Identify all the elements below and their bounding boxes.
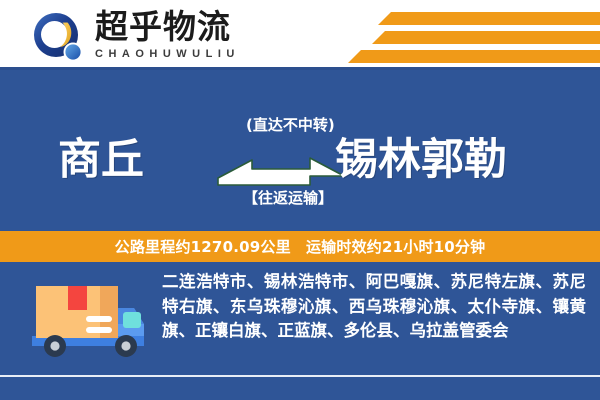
decor-stripe [378, 12, 600, 25]
brand-name-en: CHAOHUWULIU [95, 48, 295, 60]
destination-city: 锡林郭勒 [335, 136, 507, 184]
brand-name-cn: 超乎物流 [95, 8, 295, 46]
coverage-section: 二连浩特市、锡林浩特市、阿巴嘎旗、苏尼特左旗、苏尼特右旗、东乌珠穆沁旗、西乌珠穆… [0, 262, 600, 375]
coverage-city-list: 二连浩特市、锡林浩特市、阿巴嘎旗、苏尼特左旗、苏尼特右旗、东乌珠穆沁旗、西乌珠穆… [162, 270, 586, 344]
delivery-truck-icon [22, 274, 147, 362]
bottom-band [0, 377, 600, 400]
origin-city: 商丘 [58, 136, 144, 184]
roundtrip-tag: 【往返运输】 [243, 187, 333, 208]
decor-stripe [372, 31, 600, 44]
banner-header: 超乎物流 CHAOHUWULIU [0, 0, 600, 67]
direct-service-tag: (直达不中转) [246, 114, 335, 135]
route-section: 商丘 (直达不中转) 锡林郭勒 【往返运输】 [0, 70, 600, 228]
double-headed-arrow-icon [216, 154, 346, 186]
distance-duration-text: 公路里程约1270.09公里 运输时效约21小时10分钟 [115, 236, 486, 257]
circle-crescent-logo-icon [33, 12, 85, 64]
decor-stripe [348, 50, 600, 63]
logistics-route-banner: 超乎物流 CHAOHUWULIU 商丘 (直达不中转) 锡林郭勒 【往返运输】 … [0, 0, 600, 400]
distance-duration-bar: 公路里程约1270.09公里 运输时效约21小时10分钟 [0, 231, 600, 262]
brand-block: 超乎物流 CHAOHUWULIU [95, 8, 295, 60]
